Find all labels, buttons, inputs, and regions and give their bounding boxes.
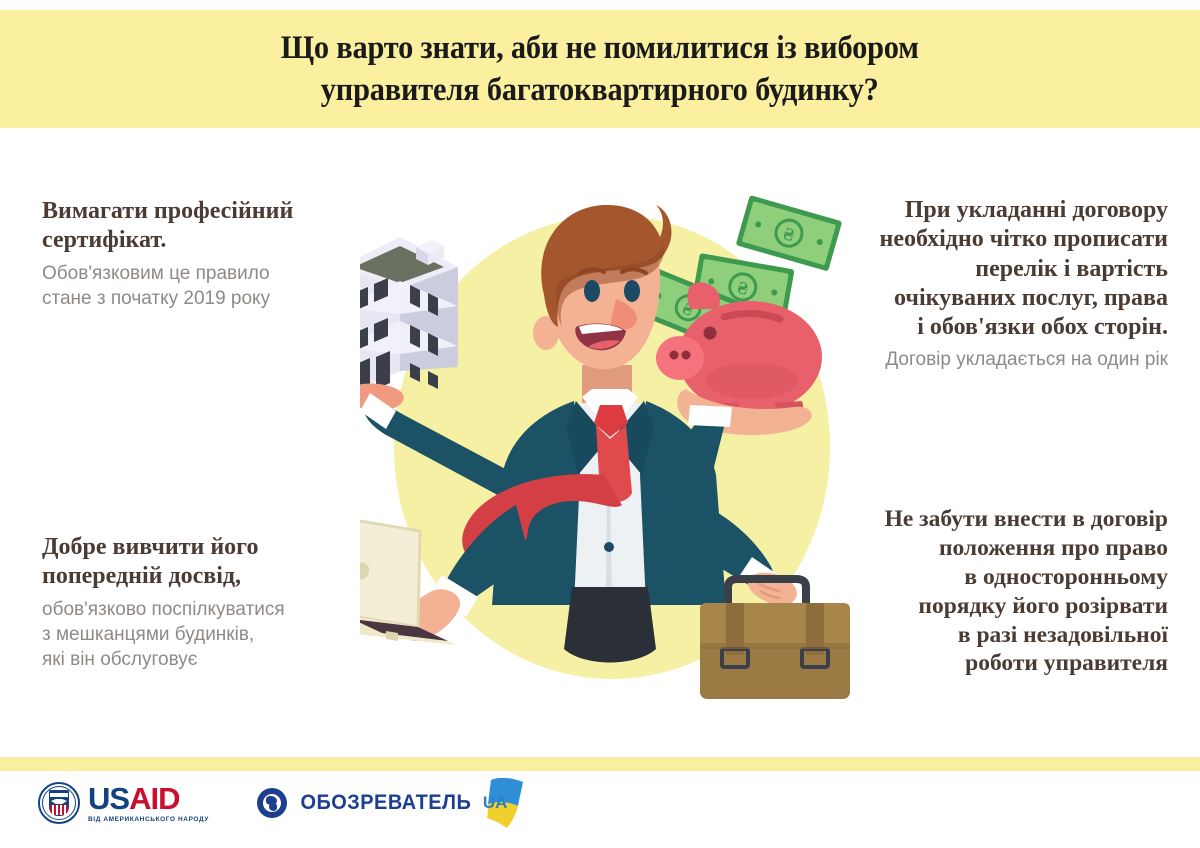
contract-lead-line5: і обов'язки обох сторін. [818,313,1168,342]
obozrevatel-logo: ОБОЗРЕВАТЕЛЬ UA [257,788,507,818]
contract-lead: При укладанні договору необхідно чітко п… [818,196,1168,342]
certificate-lead: Вимагати професійний сертифікат. [42,197,352,256]
experience-lead-line1: Добре вивчити його [42,533,357,562]
usaid-tagline: ВІД АМЕРИКАНСЬКОГО НАРОДУ [88,817,209,824]
contract-lead-line3: перелік і вартість [818,255,1168,284]
experience-lead: Добре вивчити його попередній досвід, [42,533,357,592]
experience-lead-line2: попередній досвід, [42,562,357,591]
experience-sub-line2: з мешканцями будинків, [42,622,357,647]
text-block-contract: При укладанні договору необхідно чітко п… [818,196,1168,372]
contract-sub-line1: Договір укладається на один рік [818,347,1168,372]
page-title: Що варто знати, аби не помилитися із виб… [226,27,974,111]
certificate-sub-line2: стане з початку 2019 року [42,286,352,311]
experience-sub-line1: обов'язково поспілкуватися [42,597,357,622]
page-title-line2: управителя багатоквартирного будинку? [281,69,919,111]
usaid-word-us: US [88,781,129,816]
multitasking-businessman-illustration: ₴ ₴ ₴ [360,175,860,720]
footer-divider-band [0,757,1200,771]
certificate-lead-line2: сертифікат. [42,226,352,255]
experience-sub: обов'язково поспілкуватися з мешканцями … [42,597,357,672]
terminate-lead-line4: порядку його розірвати [818,592,1168,621]
terminate-lead-line1: Не забути внести в договір [818,505,1168,534]
certificate-lead-line1: Вимагати професійний [42,197,352,226]
terminate-lead-line5: в разі незадовільної [818,621,1168,650]
text-block-experience: Добре вивчити його попередній досвід, об… [42,533,357,672]
terminate-lead-line6: роботи управителя [818,649,1168,678]
contract-lead-line2: необхідно чітко прописати [818,225,1168,254]
terminate-lead-line2: положення про право [818,534,1168,563]
terminate-lead: Не забути внести в договір положення про… [818,505,1168,678]
usaid-word: USAID [88,783,209,814]
header-band: Що варто знати, аби не помилитися із виб… [0,10,1200,128]
contract-lead-line4: очікуваних послуг, права [818,284,1168,313]
contract-lead-line1: При укладанні договору [818,196,1168,225]
right-cuff [688,405,732,427]
usaid-logo: USAID ВІД АМЕРИКАНСЬКОГО НАРОДУ [38,782,209,824]
footer-logos: USAID ВІД АМЕРИКАНСЬКОГО НАРОДУ ОБОЗРЕВА… [38,782,507,824]
globe-icon [257,788,287,818]
obozrevatel-domain: UA [483,793,508,813]
contract-sub: Договір укладається на один рік [818,347,1168,372]
infographic-page: Що варто знати, аби не помилитися із виб… [0,0,1200,848]
page-title-line1: Що варто знати, аби не помилитися із виб… [281,27,919,69]
obozrevatel-wordmark: ОБОЗРЕВАТЕЛЬ [300,791,471,815]
experience-sub-line3: які він обслуговує [42,647,357,672]
usaid-seal-icon [38,782,80,824]
certificate-sub: Обов'язковим це правило стане з початку … [42,261,352,311]
terminate-lead-line3: в односторонньому [818,563,1168,592]
text-block-terminate: Не забути внести в договір положення про… [818,505,1168,678]
text-block-certificate: Вимагати професійний сертифікат. Обов'яз… [42,197,352,311]
certificate-sub-line1: Обов'язковим це правило [42,261,352,286]
usaid-word-aid: AID [129,781,179,816]
usaid-wordmark: USAID ВІД АМЕРИКАНСЬКОГО НАРОДУ [88,783,209,824]
